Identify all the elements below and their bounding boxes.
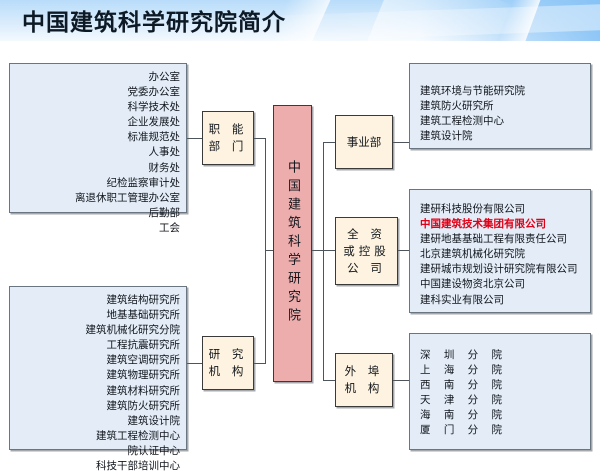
connector-left-bus-to-center <box>265 250 273 251</box>
node-label-line: 全 资 <box>343 226 390 243</box>
list-item: 党委办公室 <box>16 85 180 100</box>
list-item: 地基基础研究所 <box>16 308 180 323</box>
list-item: 建研科技股份有限公司 <box>420 202 584 217</box>
list-item: 建筑结构研究所 <box>16 293 180 308</box>
functional-departments-list-box: 办公室 党委办公室 科学技术处 企业发展处 标准规范处 人事处 财务处 纪检监察… <box>9 63 187 213</box>
node-label-line: 部 门 <box>209 138 248 155</box>
connector-research-to-list <box>186 363 202 364</box>
list-item: 科学技术处 <box>16 100 180 115</box>
node-label-line: 公 司 <box>343 260 390 277</box>
list-item: 上 海 分 院 <box>420 363 584 378</box>
list-item: 建科实业有限公司 <box>420 293 584 308</box>
list-item: 建筑防火研究所 <box>420 99 584 114</box>
business-division-list-box: 建筑环境与节能研究院 建筑防火研究所 建筑工程检测中心 建筑设计院 <box>409 63 591 149</box>
list-item: 纪检监察审计处 <box>16 176 180 191</box>
node-functional-departments[interactable]: 职 能 部 门 <box>202 111 254 165</box>
list-item: 标准规范处 <box>16 130 180 145</box>
list-item: 科技干部培训中心 <box>16 459 180 474</box>
connector-functional-to-bus <box>254 138 265 139</box>
node-label-line: 或控股 <box>343 243 390 260</box>
list-item: 工会 <box>16 221 180 236</box>
connector-left-vertical-bus <box>265 138 266 364</box>
list-item: 院认证中心 <box>16 444 180 459</box>
list-item: 厦 门 分 院 <box>420 423 584 438</box>
list-item: 建筑空调研究所 <box>16 353 180 368</box>
org-chart: 办公室 党委办公室 科学技术处 企业发展处 标准规范处 人事处 财务处 纪检监察… <box>0 41 600 456</box>
branch-offices-list-box: 深 圳 分 院 上 海 分 院 西 南 分 院 天 津 分 院 海 南 分 院 … <box>409 333 591 450</box>
page-title: 中国建筑科学研究院简介 <box>22 3 286 37</box>
connector-bus-to-branches <box>323 380 335 381</box>
node-business-division[interactable]: 事业部 <box>335 115 393 169</box>
list-item: 财务处 <box>16 161 180 176</box>
list-item: 离退休职工管理办公室 <box>16 191 180 206</box>
node-label-line: 事业部 <box>347 134 382 151</box>
node-research-institutes[interactable]: 研 究 机 构 <box>202 336 254 390</box>
list-item: 建筑环境与节能研究院 <box>420 84 584 99</box>
list-item: 企业发展处 <box>16 115 180 130</box>
node-label-line: 机 构 <box>345 380 384 397</box>
node-label-line: 研 究 <box>209 346 248 363</box>
node-holding-companies[interactable]: 全 资 或控股 公 司 <box>335 217 398 285</box>
connector-business-to-list <box>393 142 409 143</box>
list-item: 海 南 分 院 <box>420 408 584 423</box>
list-item: 建筑机械化研究分院 <box>16 323 180 338</box>
node-root-institute[interactable]: 中国建筑科学研究院 <box>273 105 312 382</box>
list-item: 建研城市规划设计研究院有限公司 <box>420 262 584 277</box>
list-item: 建筑设计院 <box>16 414 180 429</box>
list-item: 建筑防火研究所 <box>16 399 180 414</box>
holding-companies-list-box: 建研科技股份有限公司 中国建筑技术集团有限公司 建研地基基础工程有限责任公司 北… <box>409 189 591 313</box>
list-item: 工程抗震研究所 <box>16 338 180 353</box>
list-item: 建筑工程检测中心 <box>420 114 584 129</box>
list-item: 人事处 <box>16 145 180 160</box>
node-label-line: 外 埠 <box>345 363 384 380</box>
connector-bus-to-companies <box>323 250 335 251</box>
connector-bus-to-business <box>323 142 335 143</box>
list-item: 建筑工程检测中心 <box>16 429 180 444</box>
root-label: 中国建筑科学研究院 <box>283 160 302 327</box>
connector-branches-to-list <box>393 380 409 381</box>
list-item: 建研地基基础工程有限责任公司 <box>420 232 584 247</box>
list-item-highlighted: 中国建筑技术集团有限公司 <box>420 217 584 232</box>
connector-center-to-right-bus <box>312 250 323 251</box>
list-item: 后勤部 <box>16 206 180 221</box>
list-item: 西 南 分 院 <box>420 378 584 393</box>
list-item: 建筑物理研究所 <box>16 368 180 383</box>
connector-functional-to-list <box>186 138 202 139</box>
list-item: 办公室 <box>16 70 180 85</box>
connector-companies-to-list <box>398 250 409 251</box>
node-branch-offices[interactable]: 外 埠 机 构 <box>335 353 393 407</box>
list-item: 北京建筑机械化研究院 <box>420 247 584 262</box>
connector-research-to-bus <box>254 363 265 364</box>
list-item: 天 津 分 院 <box>420 393 584 408</box>
list-item: 中国建设物资北京公司 <box>420 277 584 292</box>
node-label-line: 机 构 <box>209 363 248 380</box>
list-item: 建筑设计院 <box>420 129 584 144</box>
node-label-line: 职 能 <box>209 121 248 138</box>
connector-right-vertical-bus <box>323 142 324 380</box>
research-institutes-list-box: 建筑结构研究所 地基基础研究所 建筑机械化研究分院 工程抗震研究所 建筑空调研究… <box>9 286 187 450</box>
list-item: 深 圳 分 院 <box>420 348 584 363</box>
list-item: 建筑材料研究所 <box>16 384 180 399</box>
